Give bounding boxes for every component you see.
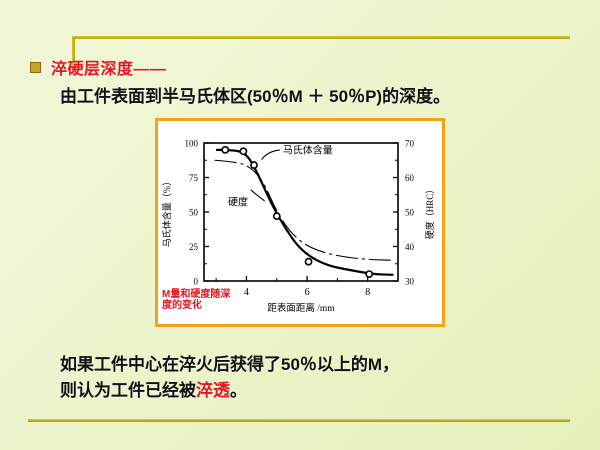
y2-axis-tick-label: 30: [405, 277, 415, 287]
decorative-rule-top: [72, 36, 570, 39]
data-point-marker: [366, 271, 372, 277]
paragraph-line-2-before: 则认为工件已经被: [60, 381, 196, 400]
data-point-marker: [305, 259, 311, 265]
data-point-marker: [251, 162, 257, 168]
y-axis-tick-label: 0: [194, 277, 199, 287]
y2-axis-tick-label: 50: [405, 208, 415, 218]
data-point-marker: [222, 147, 228, 153]
x-axis-tick-label: 6: [305, 287, 310, 298]
hardness-annotation-label: 硬度: [228, 195, 248, 208]
y-axis-tick-label: 100: [185, 139, 199, 149]
paragraph-highlight: 淬透: [196, 381, 230, 400]
figure-frame: 02550751003040506070468距表面距离 /mm马氏体含量（%）…: [155, 118, 445, 327]
martensite-curve: [216, 150, 393, 275]
martensite-annotation-label: 马氏体含量: [283, 144, 333, 157]
y2-axis-tick-label: 60: [405, 173, 415, 183]
data-point-marker: [240, 148, 246, 154]
hardness-leader-line: [251, 190, 265, 201]
paragraph-line-1: 如果工件中心在淬火后获得了50％以上的M，: [60, 352, 560, 378]
y-axis-tick-label: 75: [189, 173, 199, 183]
paragraph-line-2-after: 。: [230, 381, 247, 400]
figure-caption-line1: M量和硬度随深: [162, 289, 282, 300]
slide: 淬硬层深度—— 由工件表面到半马氏体区(50％M ＋ 50％P)的深度。 025…: [0, 0, 600, 450]
y2-axis-tick-label: 70: [405, 139, 415, 149]
heading-row: 淬硬层深度——: [30, 55, 167, 79]
bullet-square-icon: [30, 62, 41, 73]
decorative-rule-bottom: [28, 419, 570, 422]
y2-axis-tick-label: 40: [405, 242, 415, 252]
paragraph-line-2: 则认为工件已经被淬透。: [60, 378, 560, 404]
hardness-curve: [215, 160, 394, 260]
plot-frame: [204, 143, 398, 281]
figure-caption-line2: 度的变化: [162, 300, 282, 311]
x-axis-tick-label: 8: [365, 287, 370, 298]
y-axis-tick-label: 50: [189, 208, 199, 218]
y-axis-title: 马氏体含量（%）: [161, 177, 172, 248]
slide-heading: 淬硬层深度——: [51, 55, 167, 79]
data-point-marker: [274, 213, 280, 219]
martensite-leader-line: [262, 150, 280, 160]
y2-axis-title: 硬度（HRC）: [424, 185, 435, 240]
figure-caption: M量和硬度随深 度的变化: [162, 289, 282, 311]
body-paragraph: 如果工件中心在淬火后获得了50％以上的M， 则认为工件已经被淬透。: [60, 352, 560, 404]
y-axis-tick-label: 25: [189, 242, 199, 252]
slide-subheading: 由工件表面到半马氏体区(50％M ＋ 50％P)的深度。: [60, 82, 450, 107]
